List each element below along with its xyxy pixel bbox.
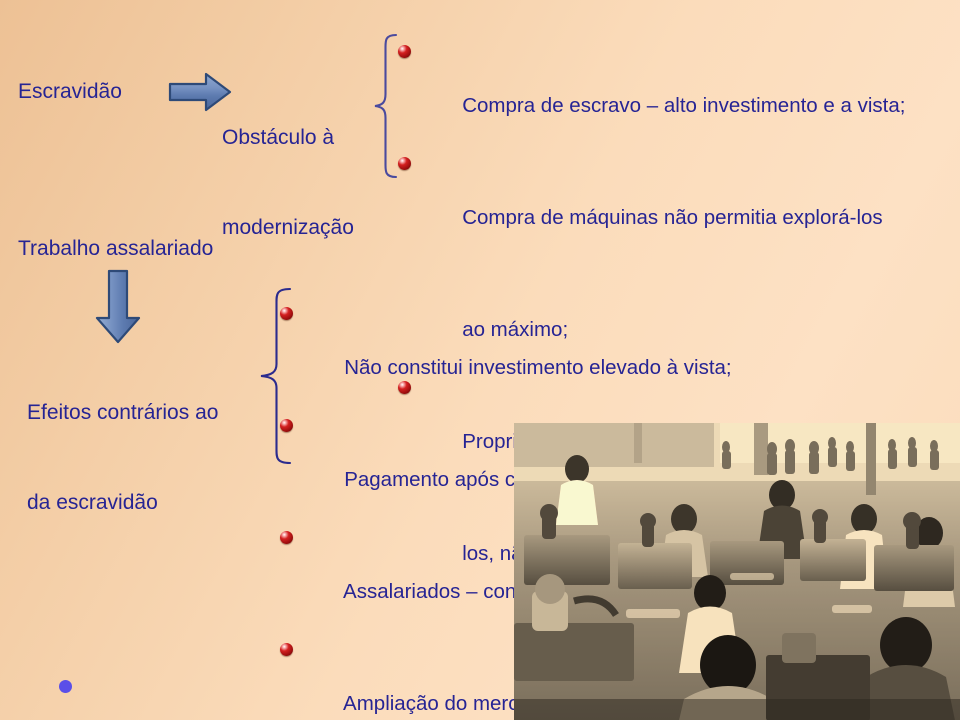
left-curly-brace-icon (372, 32, 402, 180)
section1-target-line2: modernização (222, 213, 354, 243)
section2-target-line2: da escravidão (27, 488, 218, 518)
sphere-bullet-icon (398, 45, 411, 58)
section2-target-label: Efeitos contrários ao da escravidão (27, 338, 218, 578)
factory-floor-photograph (514, 423, 960, 720)
factory-floor-photograph-content (514, 423, 960, 720)
list-item: Não constitui investimento elevado à vis… (310, 298, 862, 410)
blue-dot-bullet-icon (59, 680, 72, 693)
sphere-bullet-icon (280, 419, 293, 432)
section1-source-label: Escravidão (18, 78, 122, 105)
list-item: Compra de máquinas não permitia explorá-… (428, 148, 905, 260)
section1-target-label: Obstáculo à modernização (222, 63, 354, 303)
section2-source-label: Trabalho assalariado (18, 235, 213, 262)
list-item-label: Compra de escravo – alto investimento e … (462, 94, 905, 117)
slide-canvas: Escravidão Obstáculo à modernização Comp… (0, 0, 960, 720)
sphere-bullet-icon (280, 307, 293, 320)
list-item: Compra de escravo – alto investimento e … (428, 36, 905, 148)
sphere-bullet-icon (280, 531, 293, 544)
down-arrow-icon (88, 268, 148, 346)
sphere-bullet-icon (398, 157, 411, 170)
section2-target-line1: Efeitos contrários ao (27, 398, 218, 428)
sphere-bullet-icon (280, 643, 293, 656)
section1-target-line1: Obstáculo à (222, 123, 354, 153)
list-item-label: Compra de máquinas não permitia explorá-… (462, 206, 882, 229)
list-item-label: Não constitui investimento elevado à vis… (344, 356, 731, 379)
